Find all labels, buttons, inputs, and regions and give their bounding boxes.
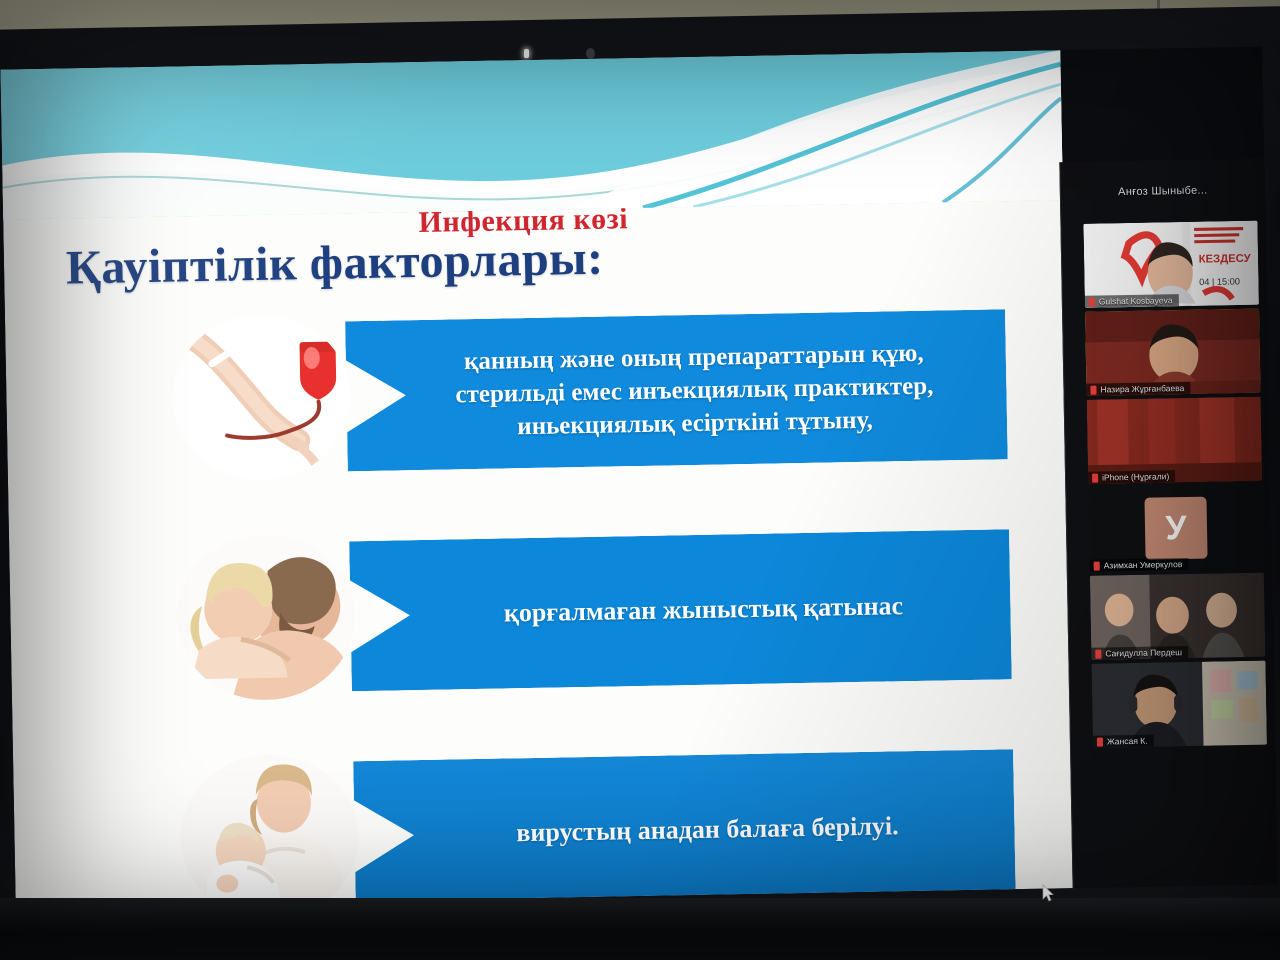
- participant-name-bar: Назира Жұрғанбаева: [1086, 382, 1190, 396]
- couple-icon: [175, 533, 356, 701]
- poster-time-text: 04 | 15:00: [1199, 276, 1240, 287]
- mic-muted-icon: [1089, 297, 1095, 306]
- blood-transfusion-icon: [171, 313, 352, 481]
- risk-factor-row: қорғалмаған жыныстық қатынас: [149, 520, 1052, 701]
- participant-tile[interactable]: У Азимхан Умеркулов: [1088, 485, 1264, 572]
- risk-factor-row: вирустың анадан балаға берілуі.: [153, 740, 1056, 907]
- desk-surface: [0, 898, 1280, 960]
- mic-muted-icon: [1090, 385, 1096, 394]
- mic-muted-icon: [1097, 737, 1103, 746]
- participant-tile[interactable]: iPhone (Нұрғали): [1087, 397, 1263, 484]
- video-conference-panel[interactable]: Анғоз Шыныбе... КЕЗДЕСУ 04 | 15:00: [1059, 158, 1277, 888]
- risk-factor-banner: қорғалмаған жыныстық қатынас: [349, 529, 1012, 691]
- risk-factor-banner: вирустың анадан балаға берілуі.: [353, 749, 1016, 907]
- participant-name-bar: Азимхан Умеркулов: [1090, 558, 1189, 572]
- mic-muted-icon: [1092, 473, 1098, 482]
- participant-name: Сағидулла Пердеш: [1105, 647, 1182, 658]
- participant-name: Жансая К.: [1107, 736, 1148, 747]
- participant-tile[interactable]: Жансая К.: [1091, 661, 1267, 748]
- risk-factor-row: қанның және оның препараттарын құю, стер…: [145, 301, 1048, 482]
- participant-tile[interactable]: КЕЗДЕСУ 04 | 15:00 Gulshat Kosbayeva: [1083, 221, 1259, 308]
- avatar: У: [1144, 497, 1207, 560]
- zoom-header: Анғоз Шыныбе...: [1060, 158, 1265, 224]
- risk-factor-text: қанның және оның препараттарын құю, стер…: [346, 335, 1008, 446]
- participant-name: Gulshat Kosbayeva: [1099, 295, 1173, 306]
- monitor-screen: Инфекция көзі Қауіптілік факторлары: қан…: [0, 47, 1277, 908]
- participant-name: Назира Жұрғанбаева: [1100, 383, 1184, 395]
- mouse-pointer: [1042, 884, 1054, 902]
- photo-scene: Инфекция көзі Қауіптілік факторлары: қан…: [0, 0, 1280, 960]
- poster-big-text: КЕЗДЕСУ: [1199, 253, 1252, 266]
- participant-name-bar: iPhone (Нұрғали): [1088, 470, 1175, 484]
- zoom-header-label: Анғоз Шыныбе...: [1118, 185, 1208, 199]
- mic-muted-icon: [1095, 649, 1101, 658]
- slide-header-wave: [0, 50, 1063, 219]
- participant-name: iPhone (Нұрғали): [1102, 471, 1169, 482]
- mother-and-baby-icon: [179, 753, 360, 907]
- participant-name-bar: Сағидулла Пердеш: [1091, 646, 1188, 660]
- participant-name: Азимхан Умеркулов: [1104, 559, 1183, 570]
- participant-tile[interactable]: Назира Жұрғанбаева: [1085, 309, 1261, 396]
- presentation-slide: Инфекция көзі Қауіптілік факторлары: қан…: [0, 50, 1075, 907]
- mic-muted-icon: [1094, 561, 1100, 570]
- participant-name-bar: Жансая К.: [1093, 735, 1154, 748]
- power-led-icon: [524, 49, 529, 58]
- webcam-icon: [586, 48, 595, 59]
- participant-name-bar: Gulshat Kosbayeva: [1085, 294, 1179, 308]
- risk-factor-text: қорғалмаған жыныстық қатынас: [424, 588, 938, 632]
- risk-factor-banner: қанның және оның препараттарын құю, стер…: [345, 309, 1008, 471]
- participant-tile[interactable]: Сағидулла Пердеш: [1090, 573, 1266, 660]
- page-title: Қауіптілік факторлары:: [66, 231, 605, 296]
- risk-factor-text: вирустың анадан балаға берілуі.: [436, 809, 933, 852]
